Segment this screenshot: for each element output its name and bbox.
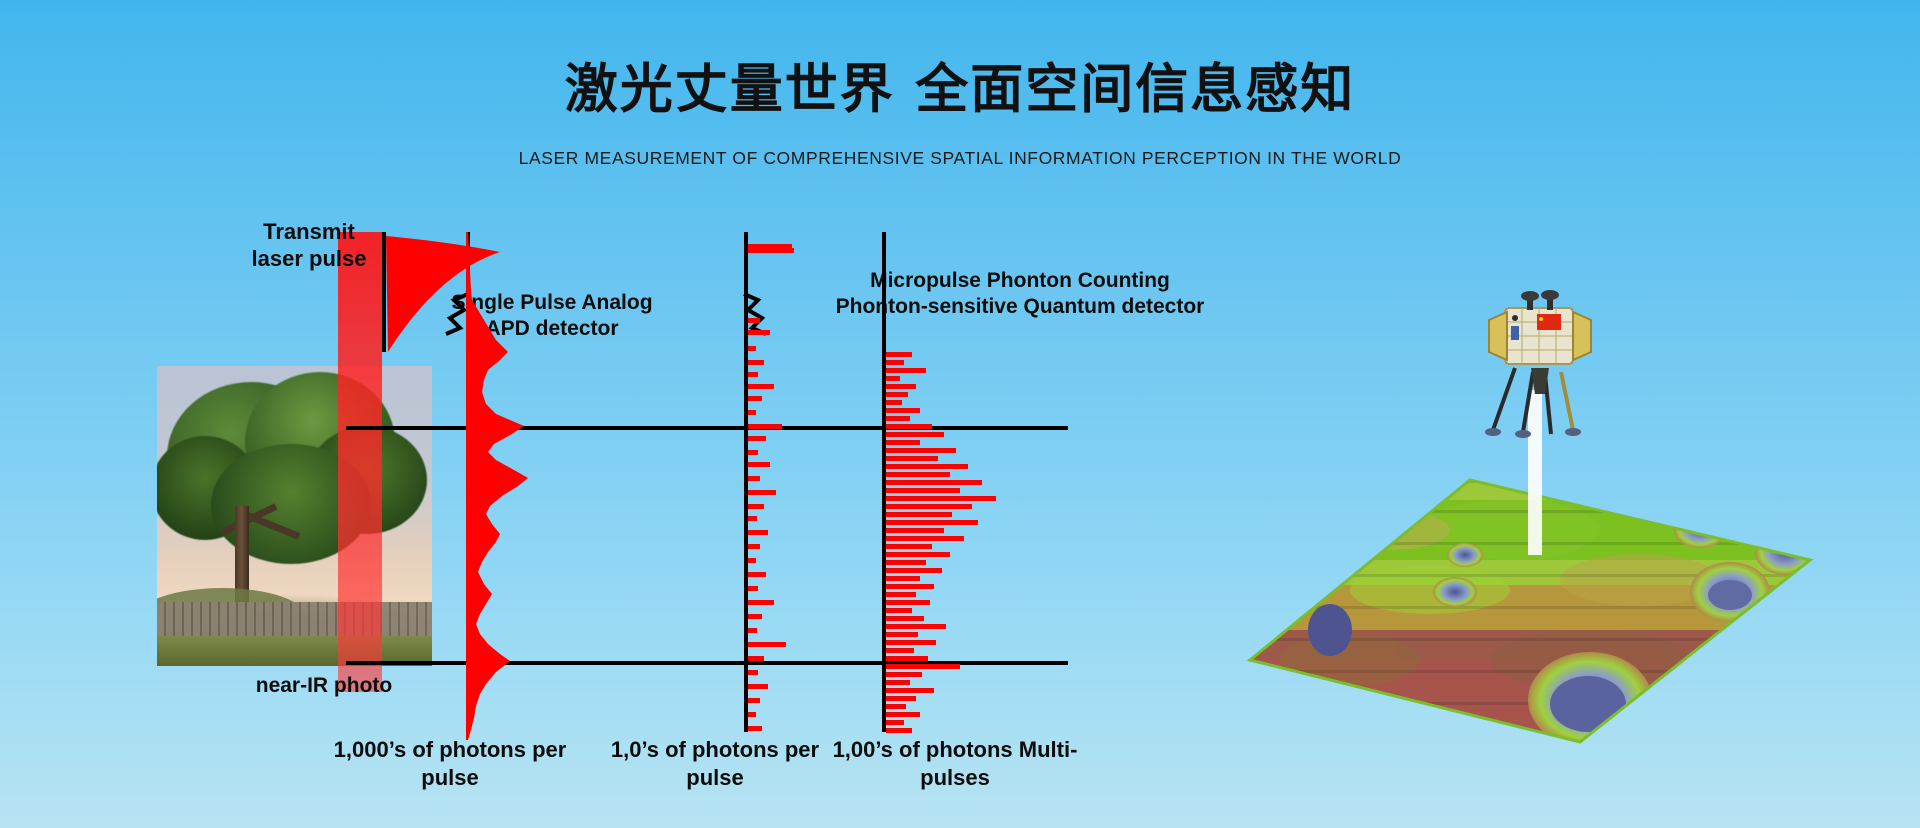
photon-bar (748, 490, 776, 495)
ground-reference-line (346, 661, 1068, 665)
photon-bar (886, 616, 924, 621)
photon-bar (886, 448, 956, 453)
laser-beam (338, 232, 382, 692)
photon-bar (886, 600, 930, 605)
photon-bar (886, 456, 938, 461)
photon-bar (748, 586, 758, 591)
photon-bar (748, 558, 756, 563)
micropulse-detector-label: Micropulse Phonton Counting Phonton-sens… (790, 268, 1250, 319)
axis-break-mark (444, 292, 490, 338)
photon-bar (886, 416, 910, 421)
photon-bar (748, 504, 764, 509)
photon-bar (748, 628, 757, 633)
axis-break-mark (722, 292, 768, 338)
photon-bar (886, 528, 944, 533)
photon-bar (886, 408, 920, 413)
caption-photons-per-pulse-a: 1,000’s of photons per pulse (310, 736, 590, 791)
photon-bar (886, 712, 920, 717)
photon-bar (886, 680, 910, 685)
photon-bar (886, 376, 900, 381)
photon-bar (748, 476, 760, 481)
photon-bar (886, 552, 950, 557)
apd-detector-label: Single Pulse Analog APD detector (392, 290, 712, 341)
photon-bar (886, 648, 914, 653)
photon-bar (748, 600, 774, 605)
photon-bar (748, 684, 768, 689)
photon-bar (886, 640, 936, 645)
photon-bar (748, 372, 758, 377)
photon-bar (886, 720, 904, 725)
photon-bar (886, 672, 922, 677)
photon-bar (748, 572, 766, 577)
canopy-reference-line (346, 426, 1068, 430)
near-ir-photo-label: near-IR photo (214, 673, 434, 699)
page-title: 激光丈量世界 全面空间信息感知 (0, 47, 1920, 123)
photon-bar (748, 410, 756, 415)
photon-bar (886, 560, 926, 565)
photon-bar (886, 688, 934, 693)
photon-bar (886, 352, 912, 357)
photon-bar (886, 440, 920, 445)
photon-bar (886, 464, 968, 469)
photon-bar (886, 400, 902, 405)
photon-bar (886, 360, 904, 365)
photon-bar (886, 568, 942, 573)
lidar-terrain-model (1210, 330, 1850, 750)
photon-bar (748, 462, 770, 467)
photon-bar (886, 512, 952, 517)
page-subtitle: LASER MEASUREMENT OF COMPREHENSIVE SPATI… (0, 148, 1920, 169)
photon-bar (886, 696, 916, 701)
photon-bar (886, 432, 944, 437)
photon-bar (886, 384, 916, 389)
photon-bar (886, 472, 950, 477)
photon-bar (748, 530, 768, 535)
photon-bar (886, 392, 908, 397)
photon-bar (886, 368, 926, 373)
slide-canvas: 激光丈量世界 全面空间信息感知 LASER MEASUREMENT OF COM… (0, 0, 1920, 828)
photon-bar (748, 244, 792, 249)
photon-bar (748, 726, 762, 731)
near-ir-photo (157, 366, 432, 666)
photon-bar (748, 670, 758, 675)
photon-bar (748, 516, 757, 521)
lunar-lander (1475, 290, 1605, 450)
photon-bar (748, 614, 762, 619)
photon-bar (748, 346, 756, 351)
photon-bar (748, 642, 786, 647)
photon-bar (748, 384, 774, 389)
waveform-axis-c (882, 232, 886, 732)
caption-photons-multi-pulses: 1,00’s of photons Multi-pulses (810, 736, 1100, 791)
photon-bar (748, 698, 760, 703)
transmit-laser-pulse-label: Transmit laser pulse (224, 219, 394, 273)
photon-bar (748, 360, 764, 365)
photon-bar (886, 728, 912, 733)
photon-bar (886, 544, 932, 549)
photon-bar (886, 480, 982, 485)
photon-bar (886, 488, 960, 493)
photon-bar (886, 624, 946, 629)
photon-bar (886, 632, 918, 637)
photon-bar (886, 704, 906, 709)
photon-bar (748, 712, 756, 717)
photon-bar (748, 450, 758, 455)
photon-bar (886, 504, 972, 509)
photon-bar (748, 396, 762, 401)
photon-bar (748, 544, 760, 549)
photon-bar (886, 608, 912, 613)
photon-bar (886, 584, 934, 589)
photon-bar (886, 496, 996, 501)
photon-bar (886, 536, 964, 541)
photon-bar (886, 576, 920, 581)
photon-bar (886, 520, 978, 525)
photon-bar (886, 592, 916, 597)
photon-bar (748, 436, 766, 441)
